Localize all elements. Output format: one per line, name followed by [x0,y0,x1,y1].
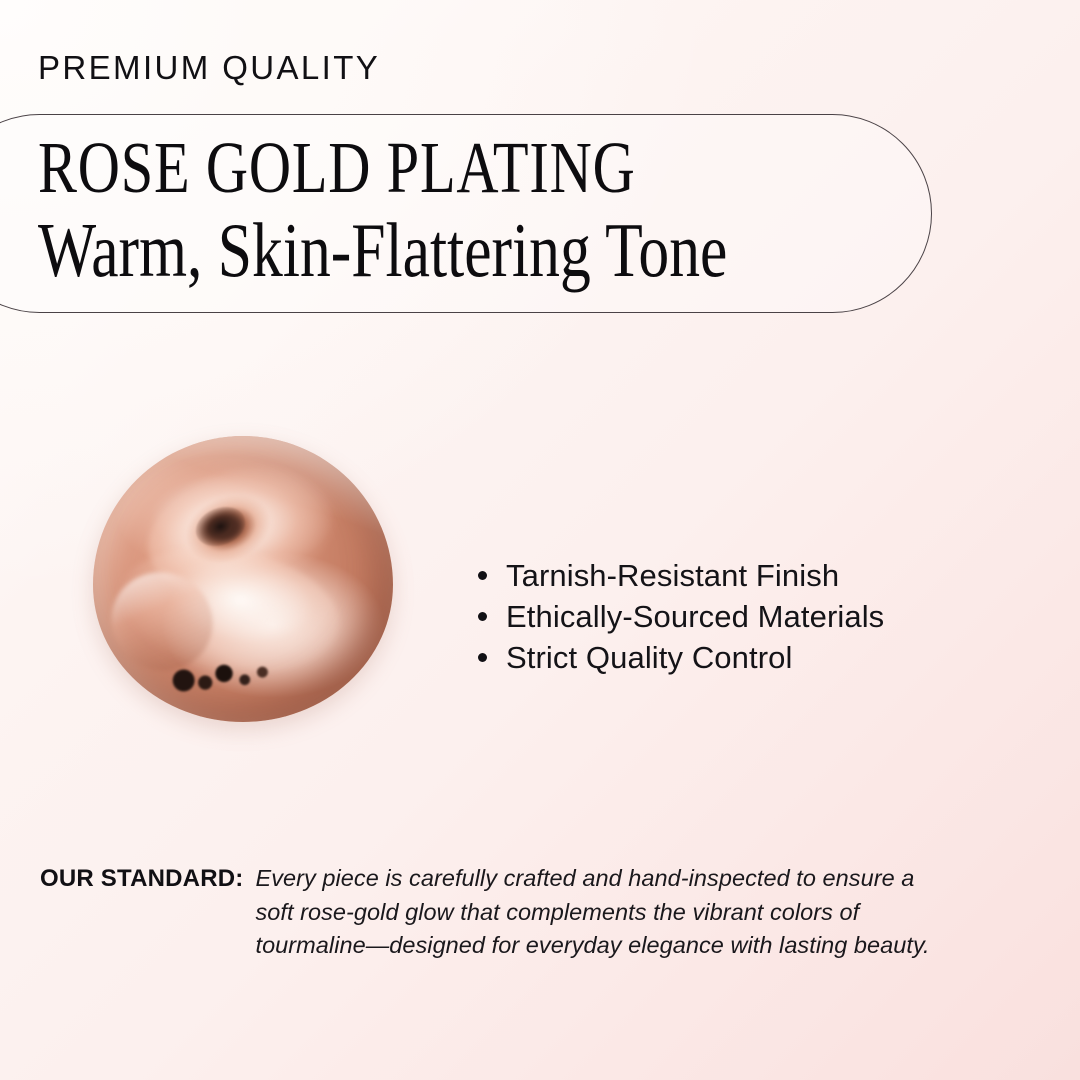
standard-statement: OUR STANDARD: Every piece is carefully c… [40,862,1040,963]
bullet-dot-icon [478,612,487,621]
sphere-body [93,436,393,722]
list-item: Strict Quality Control [478,640,1018,681]
bullet-dot-icon [478,653,487,662]
list-item: Ethically-Sourced Materials [478,599,1018,640]
headline-line-2: Warm, Skin-Flattering Tone [38,210,758,290]
sphere-swirl-core [190,499,251,553]
headline-line-1: ROSE GOLD PLATING [38,128,758,208]
feature-label: Tarnish-Resistant Finish [506,558,839,594]
sphere-speckles [163,651,298,701]
eyebrow-label: PREMIUM QUALITY [38,49,380,87]
product-image-rose-gold-sphere [85,430,400,722]
sphere-swirl-outer [174,482,282,577]
list-item: Tarnish-Resistant Finish [478,558,1018,599]
feature-label: Strict Quality Control [506,640,792,676]
sphere-fold-highlight-top [135,449,352,618]
standard-label: OUR STANDARD: [40,862,243,895]
bullet-dot-icon [478,571,487,580]
headline-block: ROSE GOLD PLATING Warm, Skin-Flattering … [38,128,938,290]
feature-list: Tarnish-Resistant Finish Ethically-Sourc… [478,558,1018,681]
standard-body-text: Every piece is carefully crafted and han… [255,862,945,963]
feature-label: Ethically-Sourced Materials [506,599,884,635]
